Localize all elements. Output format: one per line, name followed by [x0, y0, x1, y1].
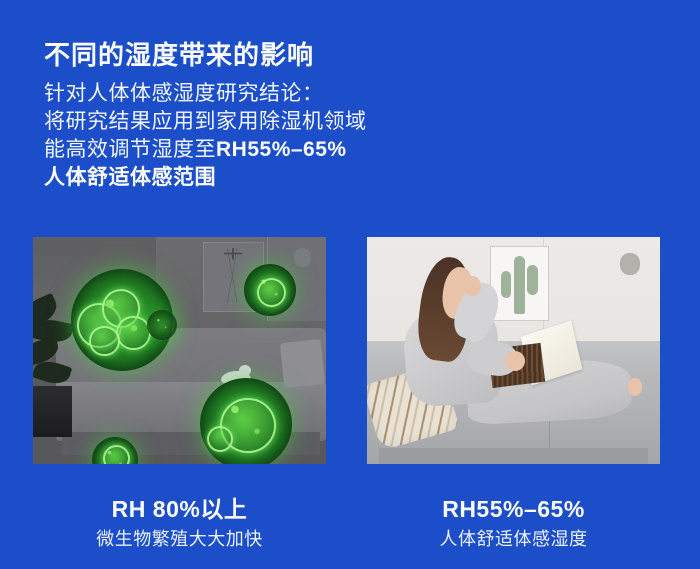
- microbe-sphere: [147, 310, 177, 340]
- microbe-bleb: [116, 316, 151, 351]
- caption-subtitle: 微生物繁殖大大加快: [33, 527, 326, 551]
- person-raised-hand: [464, 276, 482, 296]
- humidity-range-highlight: RH55%–65%: [216, 138, 347, 161]
- microbe-bleb: [103, 445, 130, 464]
- page-title: 不同的湿度带来的影响: [44, 35, 314, 72]
- intro-line-3: 能高效调节湿度至RH55%–65%: [44, 136, 464, 164]
- caption-comfort-humidity: RH55%–65% 人体舒适体感湿度: [367, 495, 660, 551]
- humidity-infographic-page: 不同的湿度带来的影响 针对人体体感湿度研究结论： 将研究结果应用到家用除湿机领域…: [0, 0, 700, 569]
- cactus-artwork-frame: [490, 246, 549, 321]
- intro-line-2: 将研究结果应用到家用除湿机领域: [44, 108, 464, 136]
- caption-subtitle: 人体舒适体感湿度: [367, 527, 660, 551]
- caption-title: RH55%–65%: [367, 495, 660, 523]
- microbe-sphere: [200, 378, 292, 464]
- microbe-bleb: [89, 326, 120, 357]
- person-lower-hand: [505, 351, 526, 371]
- photo-high-humidity: [33, 237, 326, 464]
- plant-pot: [33, 386, 72, 437]
- microbe-bleb: [257, 278, 286, 307]
- microbe-sphere: [244, 264, 296, 316]
- intro-line-4: 人体舒适体感范围: [44, 164, 464, 192]
- sofa-cushion: [280, 339, 326, 388]
- cactus-icon: [514, 256, 525, 314]
- photo-high-humidity-scene: [33, 237, 326, 464]
- caption-high-humidity: RH 80%以上 微生物繁殖大大加快: [33, 495, 326, 551]
- photo-comfort-humidity: [367, 237, 660, 464]
- intro-line-3-prefix: 能高效调节湿度至: [44, 138, 216, 161]
- caption-title: RH 80%以上: [33, 495, 326, 523]
- sofa-base: [379, 448, 649, 464]
- photo-comfort-humidity-scene: [367, 237, 660, 464]
- intro-line-1: 针对人体体感湿度研究结论：: [44, 80, 464, 108]
- microbe-bleb: [207, 426, 233, 452]
- intro-paragraph: 针对人体体感湿度研究结论： 将研究结果应用到家用除湿机领域 能高效调节湿度至RH…: [44, 80, 464, 192]
- wall-knob-icon: [620, 253, 640, 275]
